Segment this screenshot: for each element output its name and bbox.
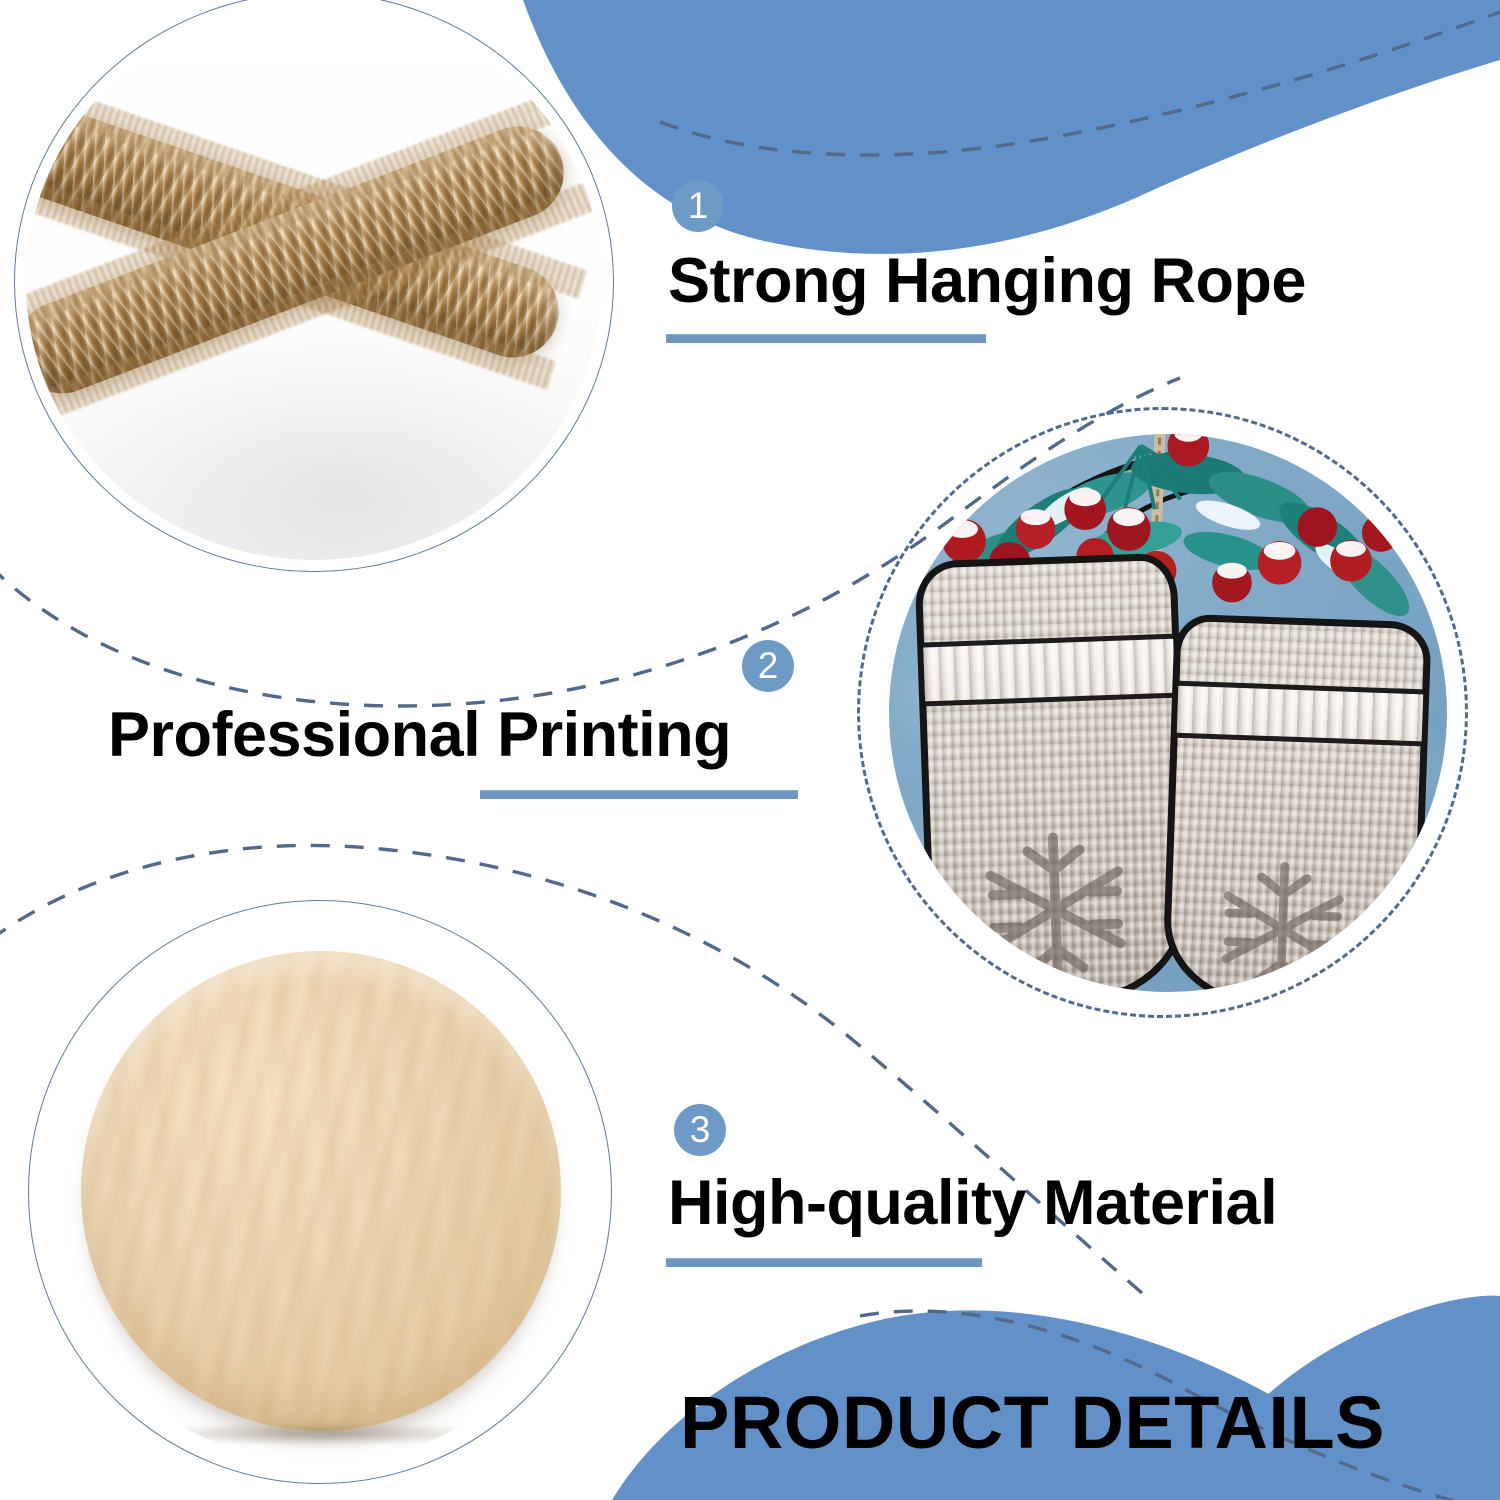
knit-stocking-left <box>915 552 1193 992</box>
feature-1-number-badge: 1 <box>672 180 724 232</box>
product-details-infographic: 1 Strong Hanging Rope <box>0 0 1500 1500</box>
wood-round-disc <box>81 951 561 1431</box>
feature-3-number-badge: 3 <box>674 1104 726 1156</box>
feature-2-number-badge: 2 <box>742 640 794 692</box>
footer-product-details-title: PRODUCT DETAILS <box>680 1386 1385 1460</box>
feature-3-underline <box>666 1258 982 1267</box>
feature-1-title: Strong Hanging Rope <box>668 248 1306 315</box>
snowflake-icon <box>1202 856 1362 992</box>
knit-stocking-right <box>1161 614 1431 992</box>
printed-knit-stockings-photo <box>889 434 1447 992</box>
wood-round-shadow <box>135 1423 506 1445</box>
snowflake-icon <box>971 820 1141 992</box>
blank-wood-round-photo <box>48 918 594 1464</box>
feature-1-underline <box>666 334 986 343</box>
feature-2-title: Professional Printing <box>108 702 731 769</box>
knit-stocking-right-cuff <box>1177 681 1423 746</box>
feature-2-underline <box>480 790 798 799</box>
jute-rope-closeup-photo <box>26 4 602 560</box>
knit-stocking-left-cuff <box>924 633 1176 707</box>
feature-3-title: High-quality Material <box>668 1170 1277 1237</box>
